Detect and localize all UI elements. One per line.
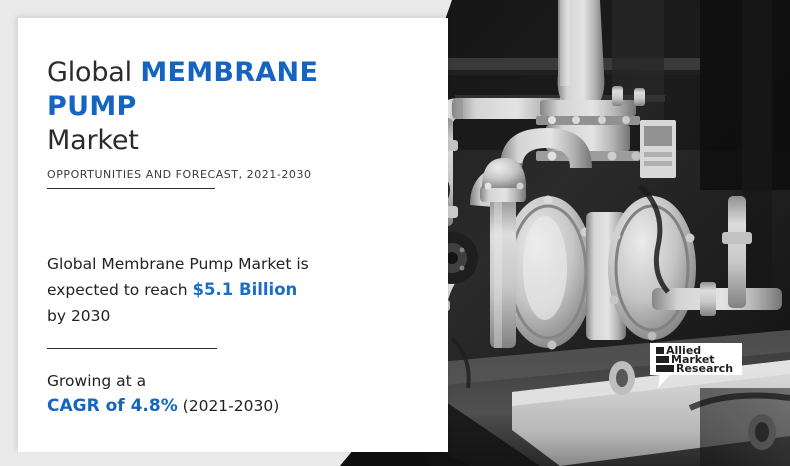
logo-line-3: Research: [676, 362, 733, 375]
market-value-line-2: expected to reach $5.1 Billion: [47, 277, 367, 303]
cagr-label: Growing at a: [47, 369, 367, 393]
market-value-amount: $5.1 Billion: [193, 280, 298, 299]
market-value-prefix: expected to reach: [47, 281, 193, 299]
market-report-infographic: Global MEMBRANE PUMP Market OPPORTUNITIE…: [0, 0, 790, 466]
logo-marker-3: [656, 365, 674, 372]
allied-market-research-logo: Allied Market Research: [648, 341, 744, 389]
market-value-line-3: by 2030: [47, 303, 367, 329]
cagr-period: (2021-2030): [178, 397, 280, 415]
subtitle-underline: [47, 188, 215, 189]
logo-marker-1: [656, 347, 664, 354]
page-subtitle: OPPORTUNITIES AND FORECAST, 2021-2030: [47, 168, 367, 181]
market-value-line-1: Global Membrane Pump Market is: [47, 251, 367, 277]
cagr-value-line: CAGR of 4.8% (2021-2030): [47, 393, 367, 419]
content-area: Global MEMBRANE PUMP Market OPPORTUNITIE…: [47, 56, 367, 419]
section-divider: [47, 348, 217, 349]
logo-marker-2: [656, 356, 669, 363]
headline-suffix: Market: [47, 125, 139, 156]
market-value-block: Global Membrane Pump Market is expected …: [47, 251, 367, 329]
cagr-block: Growing at a CAGR of 4.8% (2021-2030): [47, 369, 367, 419]
logo-svg: Allied Market Research: [648, 341, 744, 389]
page-title: Global MEMBRANE PUMP Market: [47, 56, 367, 158]
cagr-value: CAGR of 4.8%: [47, 396, 178, 416]
headline-prefix: Global: [47, 57, 140, 88]
